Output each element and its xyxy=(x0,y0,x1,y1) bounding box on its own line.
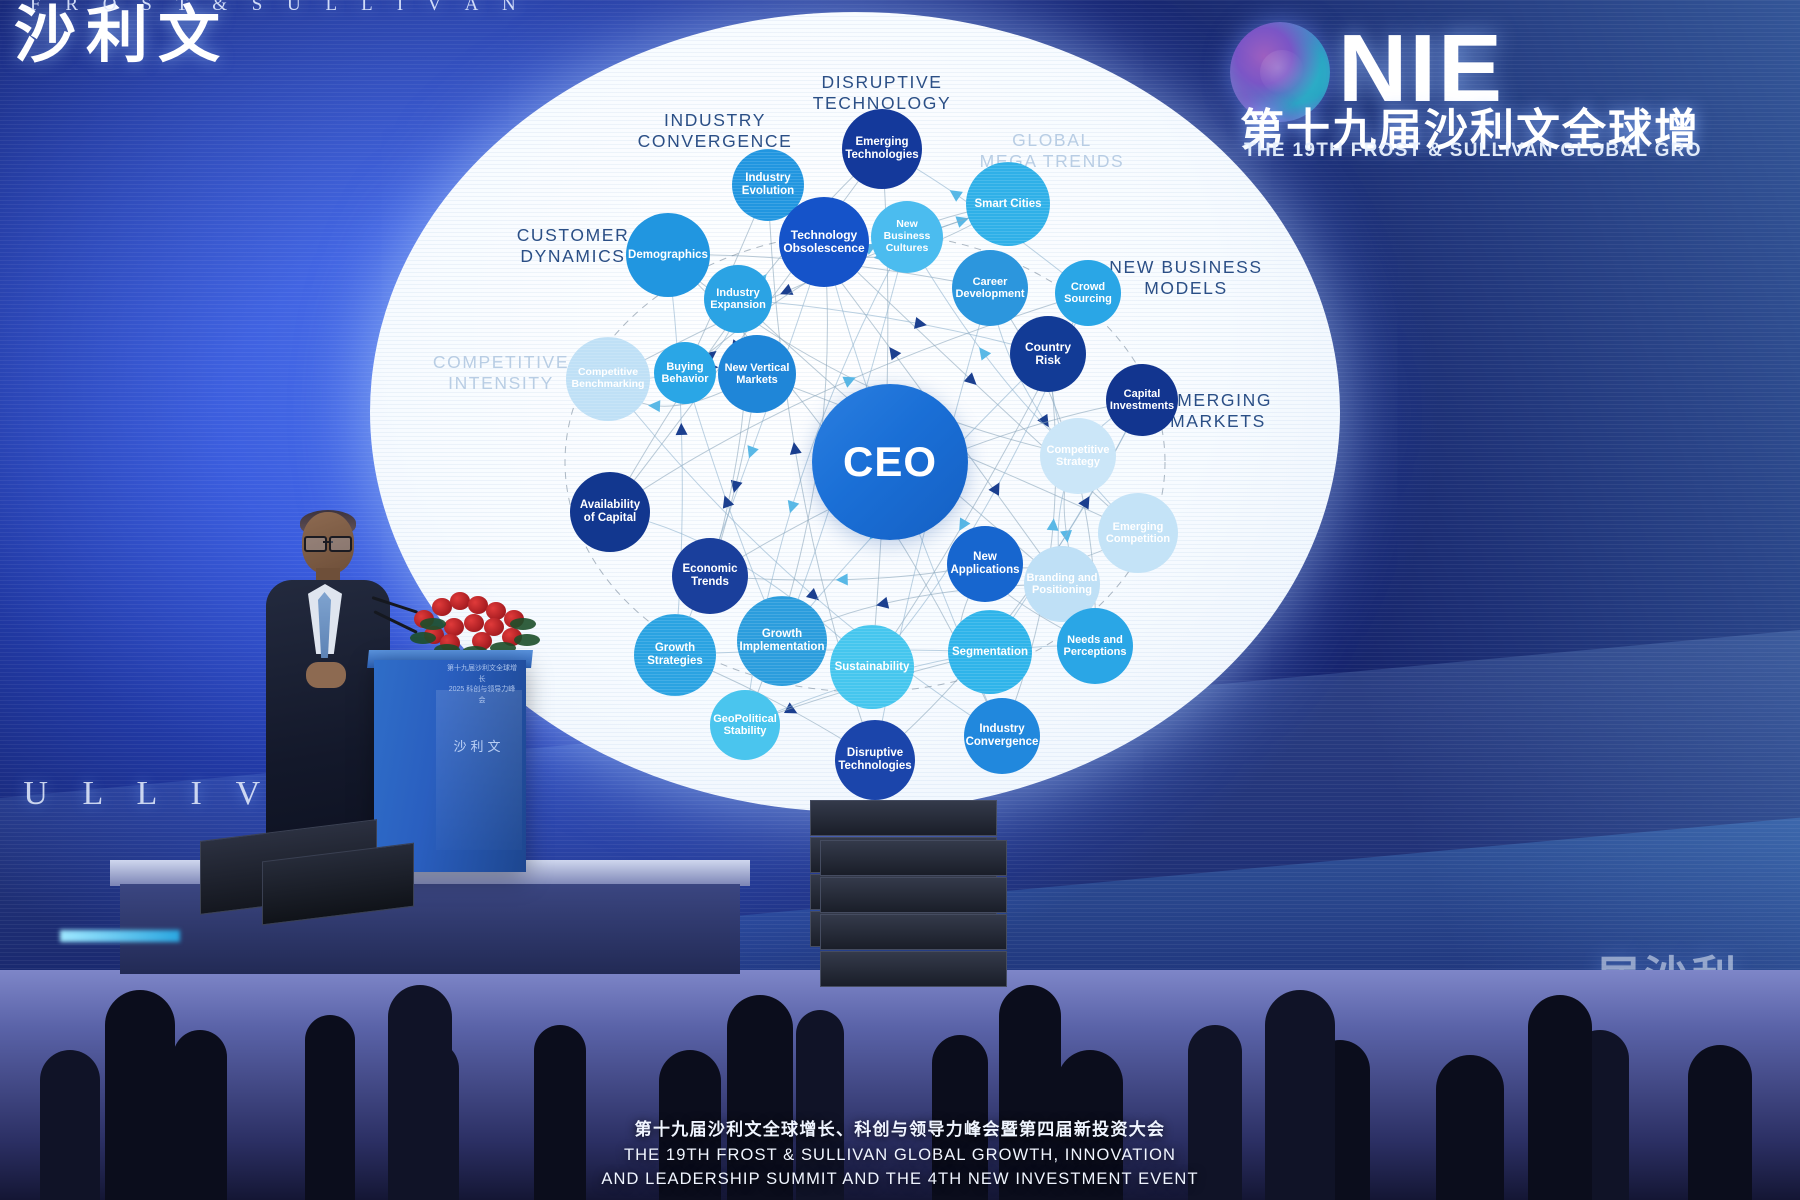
event-caption: 第十九届沙利文全球增长、科创与领导力峰会暨第四届新投资大会 THE 19TH F… xyxy=(0,1115,1800,1192)
diagram-node-8: CrowdSourcing xyxy=(1055,260,1121,326)
diagram-node-16: EconomicTrends xyxy=(672,538,748,614)
diagram-node-27: IndustryConvergence xyxy=(964,698,1040,774)
speaker-person xyxy=(258,512,388,872)
podium-plate: 第十九届沙利文全球增长 2025 科创与领导力峰会 xyxy=(446,664,518,686)
diagram-node-17: EmergingCompetition xyxy=(1098,493,1178,573)
flower xyxy=(432,598,452,616)
diagram-node-20: GrowthStrategies xyxy=(634,614,716,696)
podium-plate-line1: 第十九届沙利文全球增长 xyxy=(446,664,518,685)
diagram-node-5: Demographics xyxy=(626,213,710,297)
diagram-node-6: IndustryExpansion xyxy=(704,265,772,333)
conference-stage-photo: F R O S T & S U L L I V A N 沙利文 S U L L … xyxy=(0,0,1800,1200)
speaker-glasses-icon xyxy=(304,536,352,548)
diagram-node-21: GrowthImplementation xyxy=(737,596,827,686)
podium-front-panel xyxy=(436,690,522,850)
caption-en-line1: THE 19TH FROST & SULLIVAN GLOBAL GROWTH,… xyxy=(0,1144,1800,1168)
flower-leaf xyxy=(420,618,446,630)
diagram-node-14: CompetitiveStrategy xyxy=(1040,418,1116,494)
speaker-hands xyxy=(306,662,346,688)
diagram-node-18: NewApplications xyxy=(947,526,1023,602)
diagram-node-22: Sustainability xyxy=(830,625,914,709)
center-node-ceo: CEO xyxy=(812,384,968,540)
flower xyxy=(450,592,470,610)
category-label-5: COMPETITIVEINTENSITY xyxy=(433,352,569,395)
diagram-node-15: Availabilityof Capital xyxy=(570,472,650,552)
category-label-4: NEW BUSINESSMODELS xyxy=(1109,257,1262,300)
diagram-node-24: Needs andPerceptions xyxy=(1057,608,1133,684)
podium-plate-line2: 2025 科创与领导力峰会 xyxy=(446,685,518,706)
line-array-cabinet xyxy=(820,877,1007,913)
diagram-node-26: DisruptiveTechnologies xyxy=(835,720,915,800)
diagram-node-2: TechnologyObsolescence xyxy=(779,197,869,287)
line-array-cabinet xyxy=(820,840,1007,876)
podium-brand-mark: 沙利文 xyxy=(443,736,515,755)
flower xyxy=(464,614,484,632)
diagram-node-23: Segmentation xyxy=(948,610,1032,694)
diagram-node-10: BuyingBehavior xyxy=(654,342,716,404)
caption-en-line2: AND LEADERSHIP SUMMIT AND THE 4TH NEW IN… xyxy=(0,1168,1800,1192)
flower-leaf xyxy=(410,632,436,644)
diagram-node-25: GeoPoliticalStability xyxy=(710,690,780,760)
diagram-node-3: NewBusinessCultures xyxy=(871,201,943,273)
flower-leaf xyxy=(514,634,540,646)
flower-leaf xyxy=(510,618,536,630)
caption-cn: 第十九届沙利文全球增长、科创与领导力峰会暨第四届新投资大会 xyxy=(0,1115,1800,1140)
flower xyxy=(468,596,488,614)
category-label-6: EMERGINGMARKETS xyxy=(1164,390,1272,433)
diagram-node-12: CountryRisk xyxy=(1010,316,1086,392)
diagram-node-9: CompetitiveBenchmarking xyxy=(566,337,650,421)
diagram-node-11: New VerticalMarkets xyxy=(718,335,796,413)
diagram-node-4: Smart Cities xyxy=(966,162,1050,246)
diagram-node-13: CapitalInvestments xyxy=(1106,364,1178,436)
diagram-node-1: EmergingTechnologies xyxy=(842,109,922,189)
category-label-0: INDUSTRYCONVERGENCE xyxy=(638,110,793,153)
line-array-cabinet xyxy=(810,800,997,836)
diagram-node-7: CareerDevelopment xyxy=(952,250,1028,326)
flower-arrangement xyxy=(410,588,535,658)
category-label-3: CUSTOMERDYNAMICS xyxy=(517,225,630,268)
